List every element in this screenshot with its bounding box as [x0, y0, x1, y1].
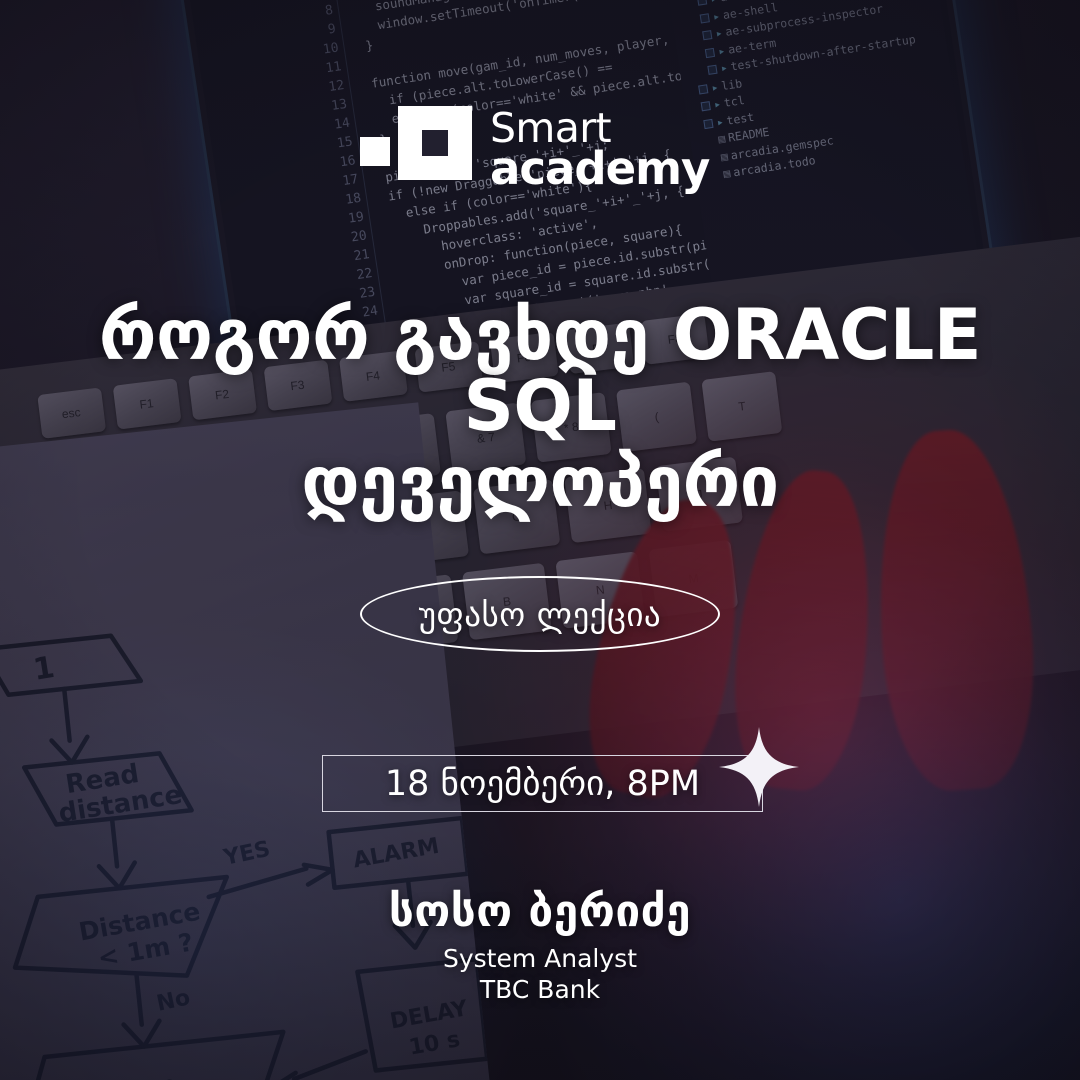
- free-lecture-badge: უფასო ლექცია: [360, 576, 720, 652]
- poster-content: Smart academy როგორ გავხდე ORACLE SQL დე…: [0, 0, 1080, 1080]
- logo-small-square: [360, 137, 390, 166]
- logo-cutout-square: [422, 130, 448, 156]
- headline-line-2: დეველოპერი: [24, 447, 1056, 518]
- smart-academy-logo-icon: [360, 106, 472, 194]
- speaker-organization: TBC Bank: [0, 975, 1080, 1006]
- speaker-role: System Analyst: [0, 944, 1080, 975]
- headline-line-1: როგორ გავხდე ORACLE SQL: [99, 294, 981, 447]
- brand-lockup: Smart academy: [360, 104, 740, 196]
- page-title: როგორ გავხდე ORACLE SQL დეველოპერი: [0, 300, 1080, 518]
- promo-poster: action_g 1 2 3 4 5 6 7 8 9 10 11 12 13 1…: [0, 0, 1080, 1080]
- brand-word-bottom: academy: [490, 148, 709, 189]
- badge-label: უფასო ლექცია: [360, 576, 720, 652]
- event-date-text: 18 ნოემბერი, 8PM: [385, 764, 700, 804]
- event-date-block: 18 ნოემბერი, 8PM: [322, 755, 763, 812]
- speaker-name: სოსო ბერიძე: [0, 888, 1080, 936]
- date-box-outline: 18 ნოემბერი, 8PM: [322, 755, 763, 812]
- speaker-block: სოსო ბერიძე System Analyst TBC Bank: [0, 888, 1080, 1005]
- brand-wordmark: Smart academy: [490, 110, 709, 189]
